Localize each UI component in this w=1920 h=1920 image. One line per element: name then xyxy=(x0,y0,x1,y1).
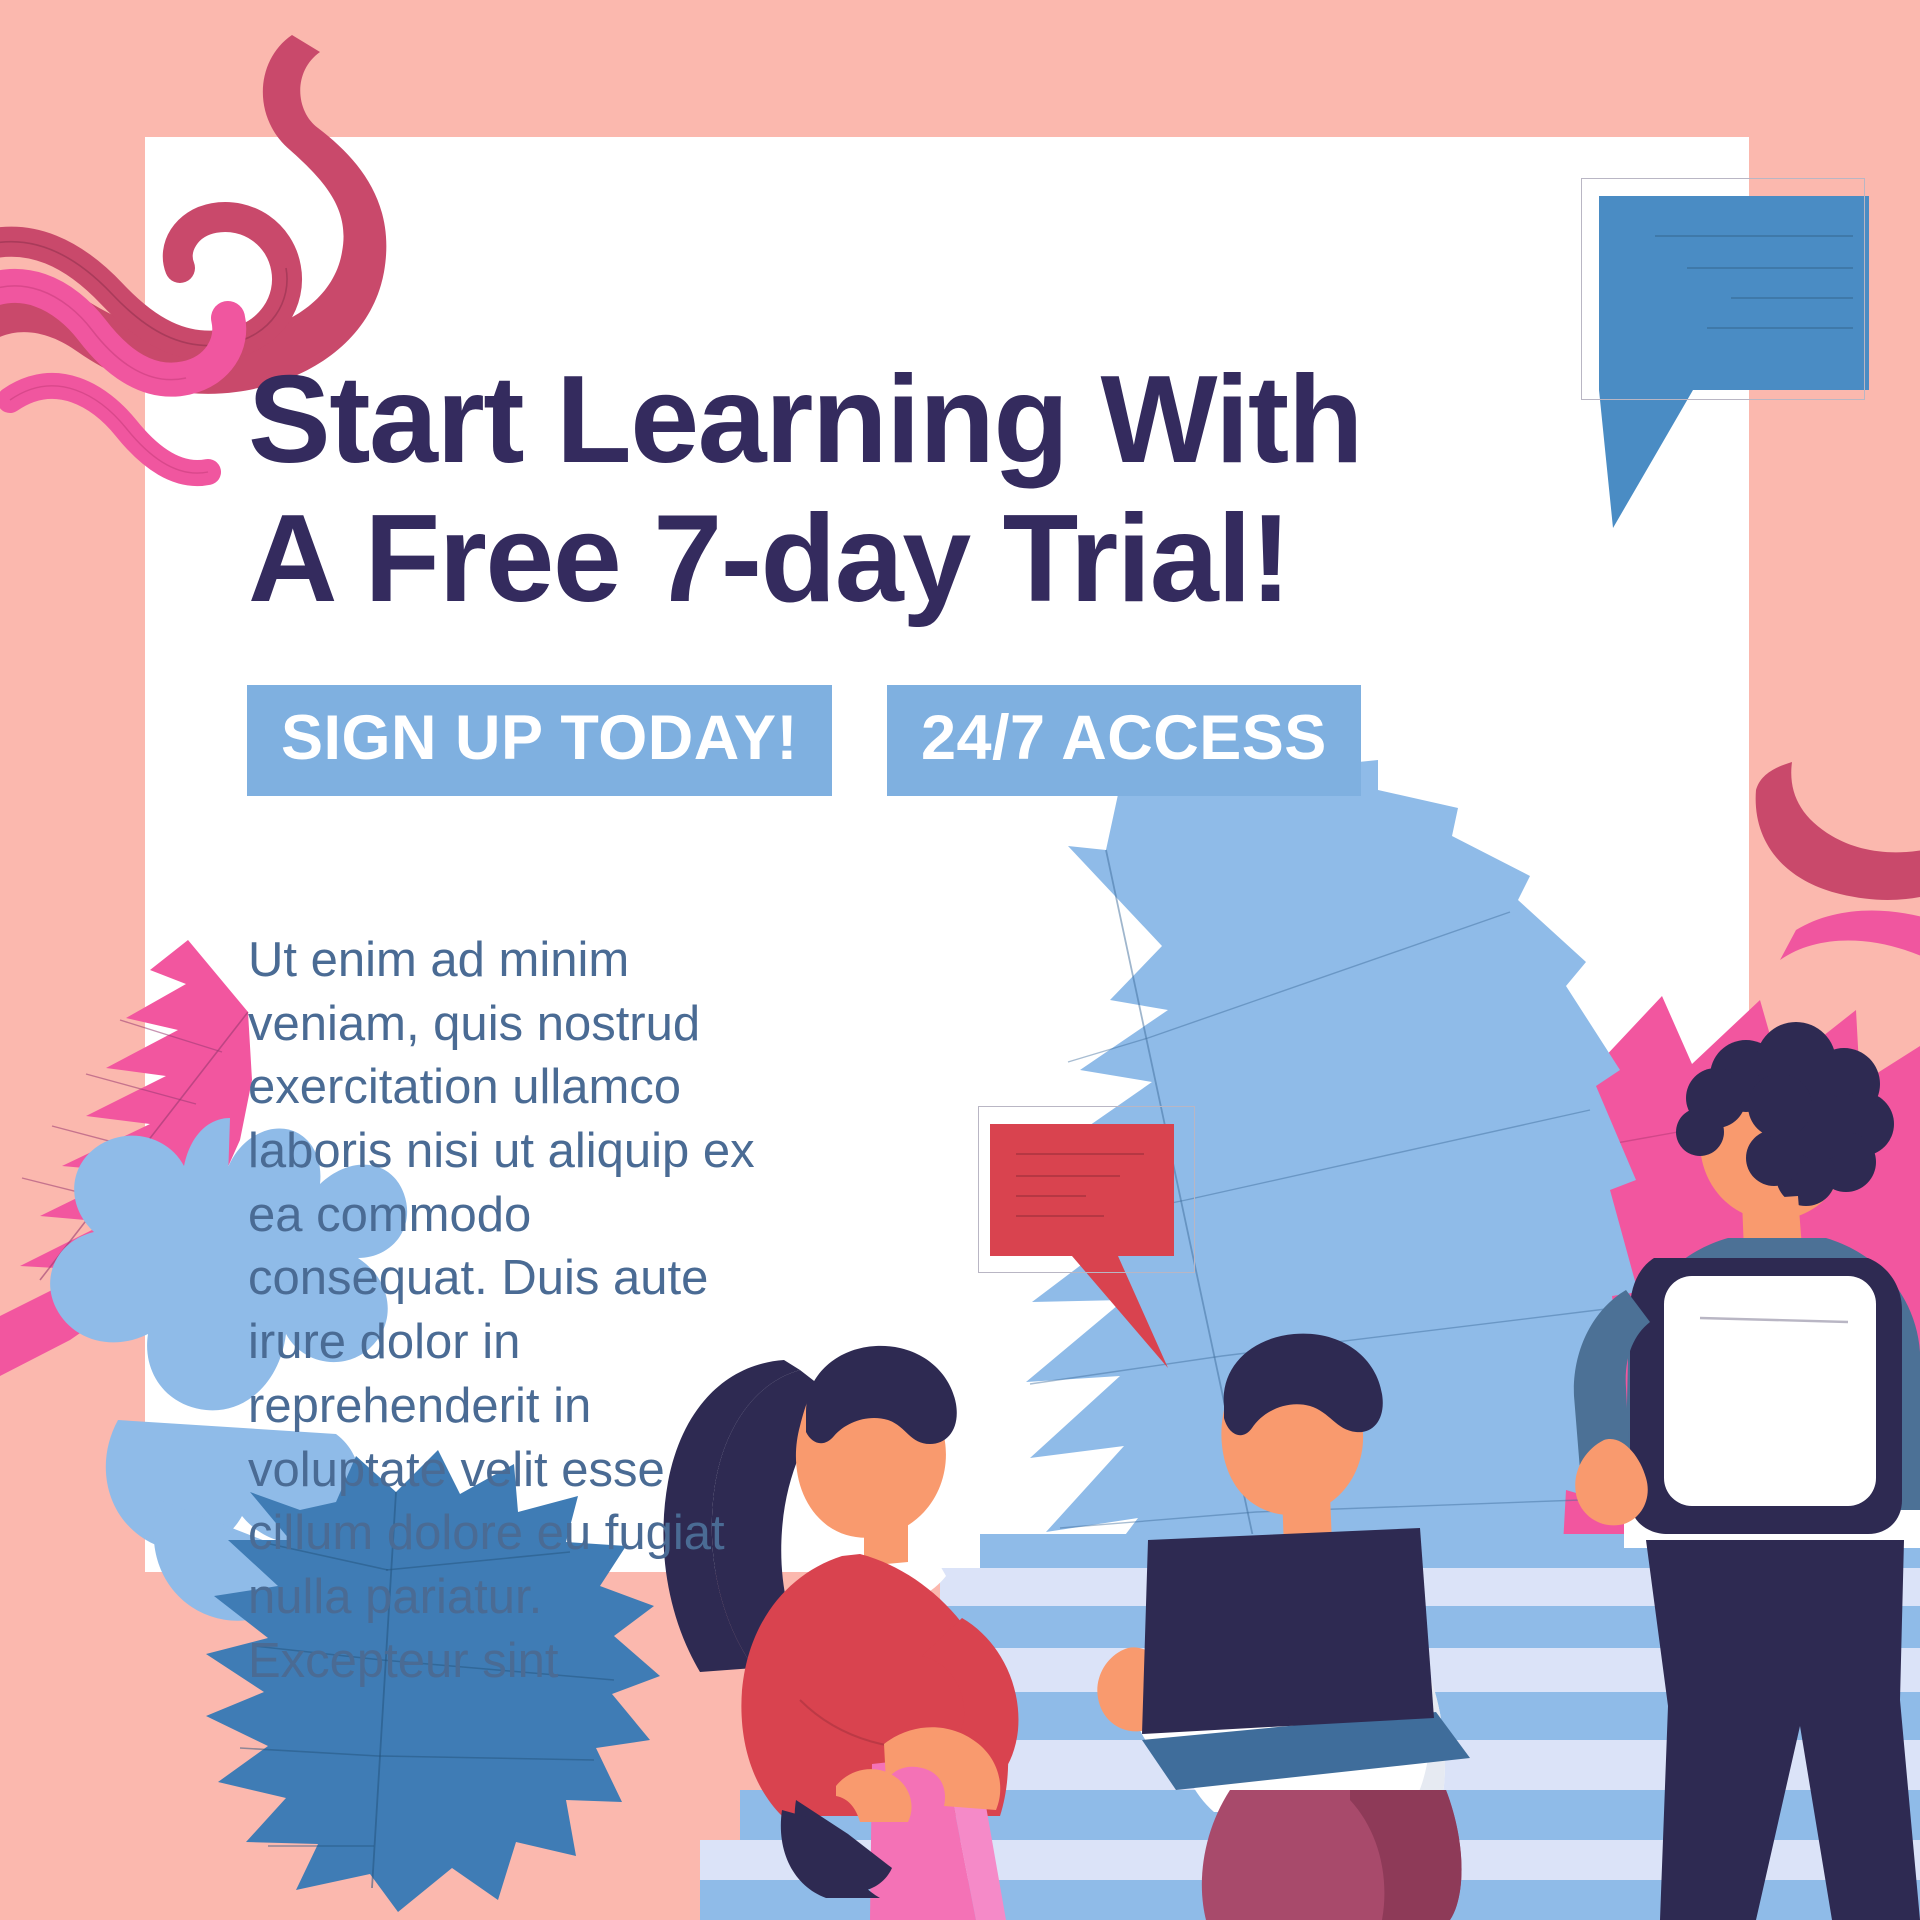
headline-line-2: A Free 7-day Trial! xyxy=(248,490,1368,629)
body-paragraph: Ut enim ad minim veniam, quis nostrud ex… xyxy=(248,929,768,1693)
badge-row: SIGN UP TODAY! 24/7 ACCESS xyxy=(247,685,1361,796)
blue-speech-bubble xyxy=(1573,168,1883,528)
pink-ribbon-top-left xyxy=(0,35,386,394)
blue-bubble-outline xyxy=(1581,178,1865,400)
red-speech-bubble xyxy=(978,1096,1228,1366)
red-bubble-outline xyxy=(978,1106,1195,1273)
page-title: Start Learning With A Free 7-day Trial! xyxy=(248,351,1368,629)
headline-line-1: Start Learning With xyxy=(248,351,1362,489)
sign-up-today-button[interactable]: SIGN UP TODAY! xyxy=(247,685,832,796)
access-badge[interactable]: 24/7 ACCESS xyxy=(887,685,1361,796)
poster-canvas: Start Learning With A Free 7-day Trial! … xyxy=(0,0,1920,1920)
pink-ribbon-right xyxy=(1756,762,1920,974)
